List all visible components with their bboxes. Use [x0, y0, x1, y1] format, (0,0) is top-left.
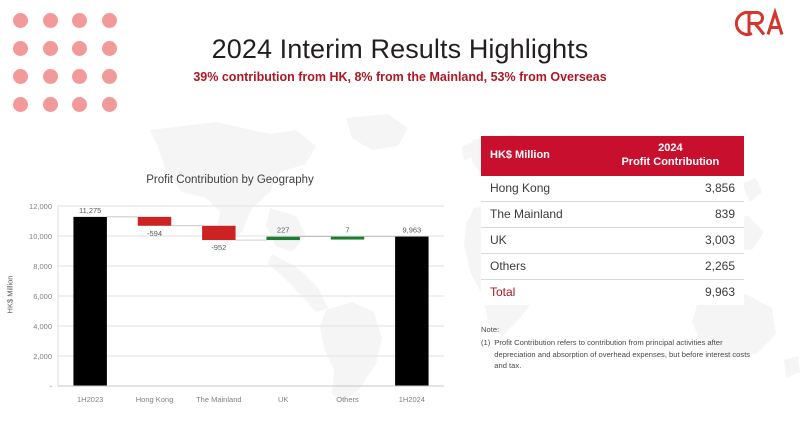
bar-value-label: 7	[345, 226, 349, 235]
x-tick-label: 1H2023	[77, 395, 103, 404]
note-text: Profit Contribution refers to contributi…	[494, 337, 757, 372]
bar-value-label: 9,963	[402, 226, 421, 235]
table-cell-label: The Mainland	[481, 201, 597, 227]
table-header-value-year: 2024	[606, 142, 735, 156]
dot	[13, 13, 28, 28]
profit-contribution-chart: Profit Contribution by Geography HK$ Mil…	[0, 170, 460, 422]
cka-logo	[726, 6, 788, 40]
x-tick-label: The Mainland	[196, 395, 241, 404]
dot	[72, 13, 87, 28]
y-tick-label: 2,000	[33, 352, 52, 361]
table-cell-value: 2,265	[597, 253, 744, 279]
y-tick-label: 10,000	[29, 232, 52, 241]
x-tick-label: Others	[336, 395, 359, 404]
table-cell-label: UK	[481, 227, 597, 253]
x-tick-label: Hong Kong	[136, 395, 174, 404]
bar-the-mainland[interactable]	[202, 226, 235, 240]
bar-value-label: 11,275	[79, 206, 101, 215]
waterfall-svg: -2,0004,0006,0008,00010,00012,00011,2751…	[18, 190, 454, 422]
bar-value-label: 227	[277, 226, 290, 235]
table-row: Hong Kong3,856	[481, 176, 744, 202]
header: 2024 Interim Results Highlights 39% cont…	[0, 34, 800, 84]
dot	[43, 97, 58, 112]
bar-1h2024[interactable]	[395, 237, 428, 386]
y-tick-label: 6,000	[33, 292, 52, 301]
table-header-value: 2024 Profit Contribution	[597, 136, 744, 176]
y-tick-label: 12,000	[29, 202, 52, 211]
table-row: Others2,265	[481, 253, 744, 279]
dot	[13, 97, 28, 112]
table-header-label: HK$ Million	[481, 136, 597, 176]
bar-others[interactable]	[331, 237, 364, 240]
x-tick-label: UK	[278, 395, 288, 404]
note-marker: (1)	[481, 337, 490, 372]
y-tick-label: 4,000	[33, 322, 52, 331]
table-row: The Mainland839	[481, 201, 744, 227]
bar-value-label: -952	[211, 243, 226, 252]
profit-contribution-table: HK$ Million 2024 Profit Contribution Hon…	[481, 136, 744, 305]
note-label: Note:	[481, 324, 757, 336]
y-tick-label: -	[50, 382, 53, 391]
table-cell-label: Others	[481, 253, 597, 279]
table-cell-value: 839	[597, 201, 744, 227]
table-total-row: Total9,963	[481, 279, 744, 305]
page-subtitle: 39% contribution from HK, 8% from the Ma…	[0, 70, 800, 84]
table-cell-label: Hong Kong	[481, 176, 597, 202]
x-tick-label: 1H2024	[399, 395, 425, 404]
y-tick-label: 8,000	[33, 262, 52, 271]
bar-1h2023[interactable]	[73, 217, 106, 386]
table-header-value-metric: Profit Contribution	[606, 156, 735, 170]
table-cell-value: 3,003	[597, 227, 744, 253]
dot	[102, 13, 117, 28]
chart-title: Profit Contribution by Geography	[0, 174, 460, 186]
page-title: 2024 Interim Results Highlights	[0, 34, 800, 65]
note-block: Note: (1) Profit Contribution refers to …	[481, 324, 757, 372]
bar-uk[interactable]	[266, 237, 299, 240]
note-item: (1) Profit Contribution refers to contri…	[481, 337, 757, 372]
dot	[102, 97, 117, 112]
y-axis-title: HK$ Million	[6, 263, 15, 327]
chart-plot-area: -2,0004,0006,0008,00010,00012,00011,2751…	[18, 190, 454, 422]
table-cell-value: 9,963	[597, 279, 744, 305]
table-row: UK3,003	[481, 227, 744, 253]
dot	[72, 97, 87, 112]
table-cell-label: Total	[481, 279, 597, 305]
table-body: Hong Kong3,856The Mainland839UK3,003Othe…	[481, 176, 744, 305]
dot	[43, 13, 58, 28]
bar-hong-kong[interactable]	[138, 217, 171, 226]
bar-value-label: -594	[147, 229, 162, 238]
table-cell-value: 3,856	[597, 176, 744, 202]
table-header-row: HK$ Million 2024 Profit Contribution	[481, 136, 744, 176]
